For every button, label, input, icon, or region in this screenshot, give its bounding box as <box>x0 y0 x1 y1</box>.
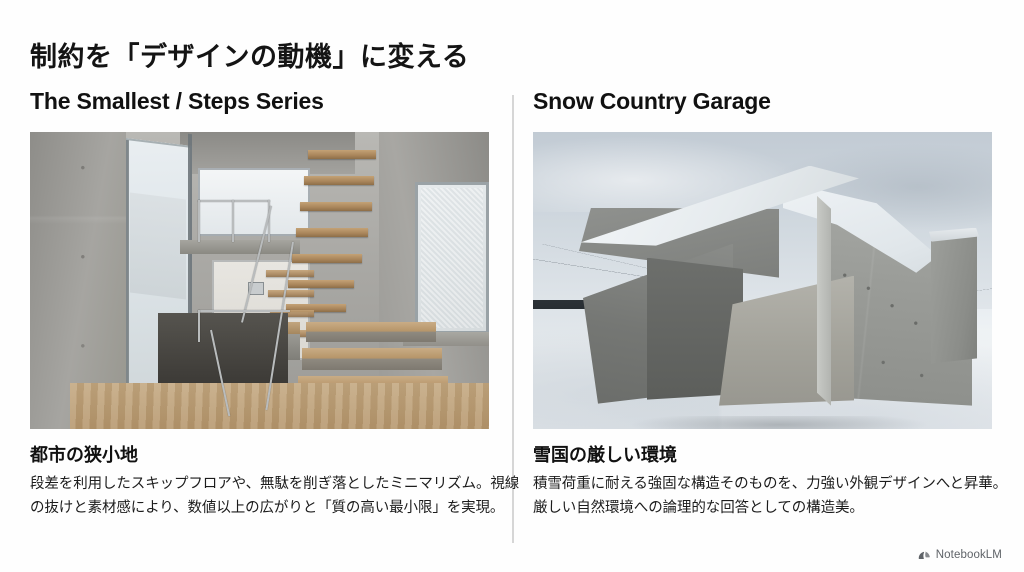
notebooklm-watermark: NotebookLM <box>917 548 1002 562</box>
page-title: 制約を「デザインの動機」に変える <box>30 40 469 75</box>
caption-line: の抜けと素材感により、数値以上の広がりと「質の高い最小限」を実現。 <box>30 497 492 520</box>
photo-snow-country-garage <box>533 132 992 429</box>
caption-line: 段差を利用したスキップフロアや、無駄を削ぎ落としたミニマリズム。視線 <box>30 473 492 496</box>
column-right: Snow Country Garage <box>533 88 995 520</box>
column-heading-right: Snow Country Garage <box>533 88 995 116</box>
caption-line: 厳しい自然環境への論理的な回答としての構造美。 <box>533 497 995 520</box>
caption-right: 雪国の厳しい環境 積雪荷重に耐える強固な構造そのものを、力強い外観デザインへと昇… <box>533 445 995 521</box>
caption-left: 都市の狭小地 段差を利用したスキップフロアや、無駄を削ぎ落としたミニマリズム。視… <box>30 445 492 521</box>
slide-root: 制約を「デザインの動機」に変える The Smallest / Steps Se… <box>0 0 1024 572</box>
caption-body-right: 積雪荷重に耐える強固な構造そのものを、力強い外観デザインへと昇華。 厳しい自然環… <box>533 473 995 520</box>
column-heading-left: The Smallest / Steps Series <box>30 88 492 116</box>
column-left: The Smallest / Steps Series <box>30 88 492 520</box>
caption-line: 積雪荷重に耐える強固な構造そのものを、力強い外観デザインへと昇華。 <box>533 473 995 496</box>
notebooklm-icon <box>917 548 931 562</box>
notebooklm-label: NotebookLM <box>936 549 1002 561</box>
photo-smallest-steps-series <box>30 132 489 429</box>
caption-title-left: 都市の狭小地 <box>30 445 492 467</box>
caption-title-right: 雪国の厳しい環境 <box>533 445 995 467</box>
caption-body-left: 段差を利用したスキップフロアや、無駄を削ぎ落としたミニマリズム。視線 の抜けと素… <box>30 473 492 520</box>
columns-container: The Smallest / Steps Series <box>0 88 1024 548</box>
